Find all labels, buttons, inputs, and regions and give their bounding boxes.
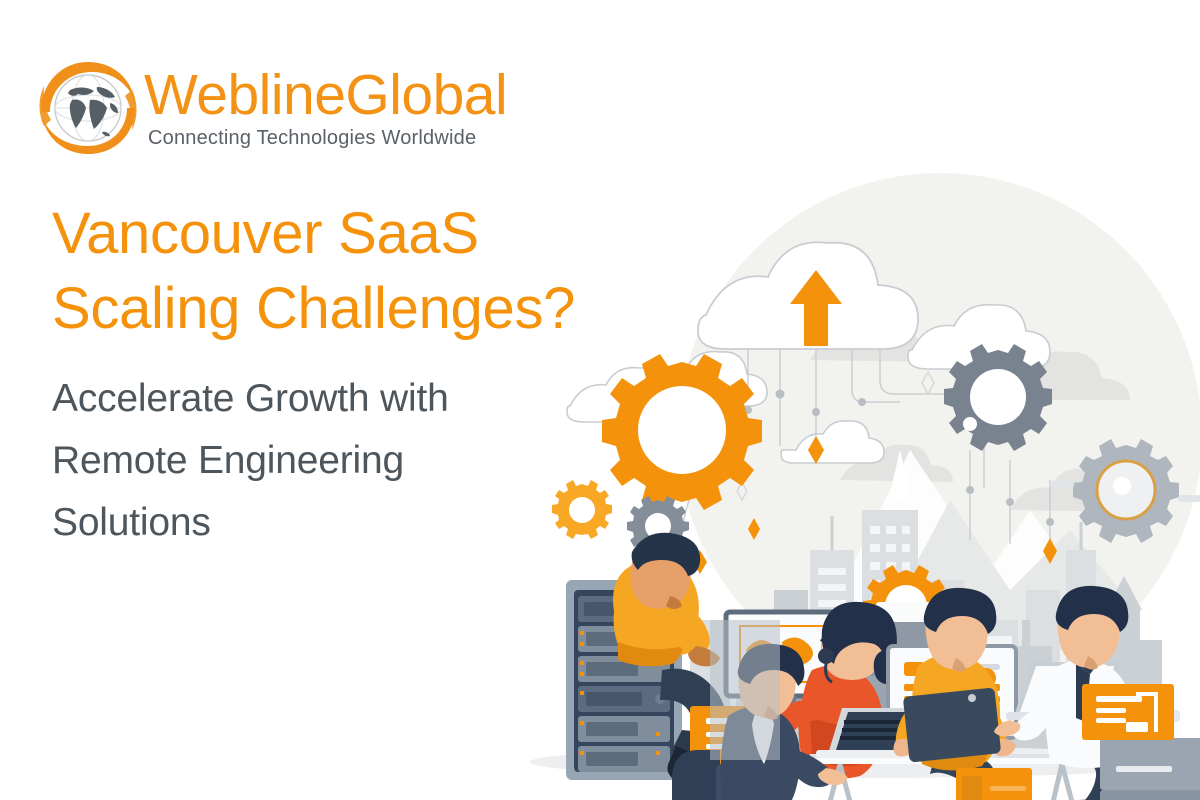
orange-storage-box-right (1082, 684, 1174, 740)
gear-tiny-orange-icon (552, 480, 612, 539)
globe-swirl-icon (34, 56, 142, 160)
filing-cabinet (1092, 738, 1200, 800)
server-unit (578, 746, 670, 772)
brand-logo[interactable]: WeblineGlobal Connecting Technologies Wo… (34, 56, 507, 160)
brand-name: WeblineGlobal (144, 66, 507, 124)
brand-tagline: Connecting Technologies Worldwide (148, 126, 507, 150)
server-unit (578, 716, 670, 742)
marketing-banner: WeblineGlobal Connecting Technologies Wo… (0, 0, 1200, 800)
hero-illustration: $ (510, 150, 1200, 800)
back-panel (710, 620, 780, 760)
server-unit (578, 686, 670, 712)
orange-cabinet-mid (956, 768, 1032, 800)
